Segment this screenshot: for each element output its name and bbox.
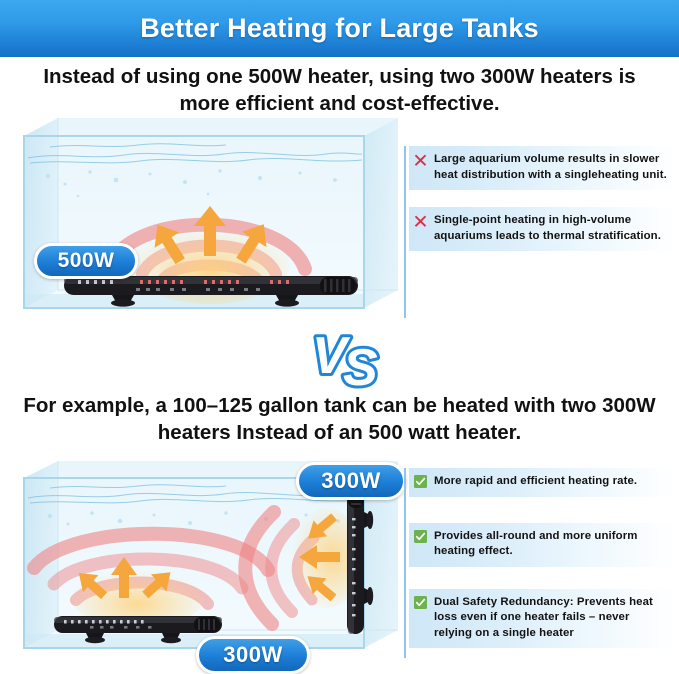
pros-panel-rail [404,468,406,658]
page-title: Better Heating for Large Tanks [140,13,539,44]
headline-bottom: For example, a 100–125 gallon tank can b… [20,392,659,446]
list-item-label: Dual Safety Redundancy: Prevents heat lo… [434,595,669,642]
cons-panel-rail [404,146,406,318]
aquarium-illustration-500w [20,114,402,320]
versus-badge: V S [310,327,392,393]
header-banner: Better Heating for Large Tanks [0,0,679,57]
list-item: Provides all-round and more uniform heat… [409,523,675,567]
red-x-icon [414,214,427,227]
wattage-badge-500w: 500W [34,243,138,279]
green-check-icon [414,475,427,488]
svg-text:S: S [343,339,378,393]
list-item: Single-point heating in high-volume aqua… [409,207,675,251]
green-check-icon [414,530,427,543]
green-check-icon [414,596,427,609]
cons-list: Large aquarium volume results in slower … [409,146,675,251]
red-x-icon [414,153,427,166]
list-item: More rapid and efficient heating rate. [409,468,675,497]
wattage-badge-300w-upper: 300W [296,462,406,500]
list-item-label: Provides all-round and more uniform heat… [434,529,669,560]
list-item: Large aquarium volume results in slower … [409,146,675,190]
wattage-badge-300w-lower: 300W [196,636,310,674]
headline-top: Instead of using one 500W heater, using … [20,63,659,117]
list-item: Dual Safety Redundancy: Prevents heat lo… [409,589,675,649]
pros-list: More rapid and efficient heating rate. P… [409,468,675,648]
list-item-label: Single-point heating in high-volume aqua… [434,213,669,244]
list-item-label: More rapid and efficient heating rate. [434,474,637,490]
list-item-label: Large aquarium volume results in slower … [434,152,669,183]
